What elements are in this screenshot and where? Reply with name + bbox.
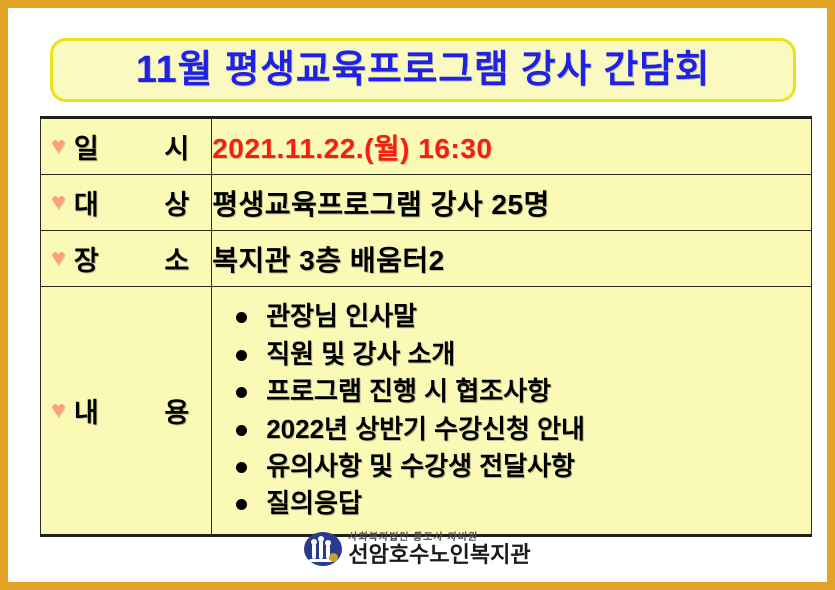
welfare-center-emblem-icon	[304, 532, 342, 566]
logo-subtitle: 사회복지법인 통도사 자비원	[348, 533, 479, 543]
row-label-content: ♥ 내 용	[41, 287, 212, 536]
list-item: 관장님 인사말	[234, 298, 811, 335]
row-label-char-b: 시	[164, 127, 189, 166]
row-label-char-a: 일	[74, 127, 99, 166]
row-label-char-b: 소	[164, 239, 189, 278]
table-row: ♥ 장 소 복지관 3층 배움터2	[41, 231, 812, 287]
heart-icon: ♥	[51, 134, 66, 159]
row-value-content: 관장님 인사말직원 및 강사 소개프로그램 진행 시 협조사항2022년 상반기…	[212, 287, 812, 536]
page-title: 11월 평생교육프로그램 강사 간담회	[136, 51, 710, 89]
row-value-audience: 평생교육프로그램 강사 25명	[212, 175, 812, 231]
row-label-char-a: 대	[74, 183, 99, 222]
event-datetime: 2021.11.22.(월) 16:30	[212, 127, 811, 167]
list-item: 프로그램 진행 시 협조사항	[234, 373, 811, 410]
title-banner: 11월 평생교육프로그램 강사 간담회	[50, 38, 796, 102]
row-value-location: 복지관 3층 배움터2	[212, 231, 812, 287]
agenda-list: 관장님 인사말직원 및 강사 소개프로그램 진행 시 협조사항2022년 상반기…	[212, 292, 811, 529]
poster-body: 11월 평생교육프로그램 강사 간담회 ♥ 일 시	[8, 8, 827, 582]
title-box: 11월 평생교육프로그램 강사 간담회	[50, 38, 796, 102]
list-item: 유의사항 및 수강생 전달사항	[234, 448, 811, 485]
heart-icon: ♥	[51, 190, 66, 215]
heart-icon: ♥	[51, 246, 66, 271]
event-audience: 평생교육프로그램 강사 25명	[212, 183, 811, 223]
row-label-char-b: 상	[164, 183, 189, 222]
table-row: ♥ 대 상 평생교육프로그램 강사 25명	[41, 175, 812, 231]
row-label-char-a: 내	[74, 391, 99, 430]
organization-logo: 사회복지법인 통도사 자비원 선암호수노인복지관	[8, 532, 827, 566]
logo-name: 선암호수노인복지관	[348, 544, 530, 566]
row-label-char-b: 용	[164, 391, 189, 430]
poster-frame: 11월 평생교육프로그램 강사 간담회 ♥ 일 시	[0, 0, 835, 590]
row-label-char-a: 장	[74, 239, 99, 278]
info-table: ♥ 일 시 2021.11.22.(월) 16:30	[40, 116, 812, 537]
table-row: ♥ 일 시 2021.11.22.(월) 16:30	[41, 118, 812, 175]
list-item: 2022년 상반기 수강신청 안내	[234, 411, 811, 448]
event-location: 복지관 3층 배움터2	[212, 239, 811, 279]
logo-text-group: 사회복지법인 통도사 자비원 선암호수노인복지관	[348, 533, 530, 566]
row-label-audience: ♥ 대 상	[41, 175, 212, 231]
list-item: 질의응답	[234, 485, 811, 522]
list-item: 직원 및 강사 소개	[234, 336, 811, 373]
row-label-location: ♥ 장 소	[41, 231, 212, 287]
row-label-datetime: ♥ 일 시	[41, 118, 212, 175]
heart-icon: ♥	[51, 398, 66, 423]
table-row: ♥ 내 용 관장님 인사말직원 및 강사 소개프로그램 진행 시 협조사항202…	[41, 287, 812, 536]
row-value-datetime: 2021.11.22.(월) 16:30	[212, 118, 812, 175]
